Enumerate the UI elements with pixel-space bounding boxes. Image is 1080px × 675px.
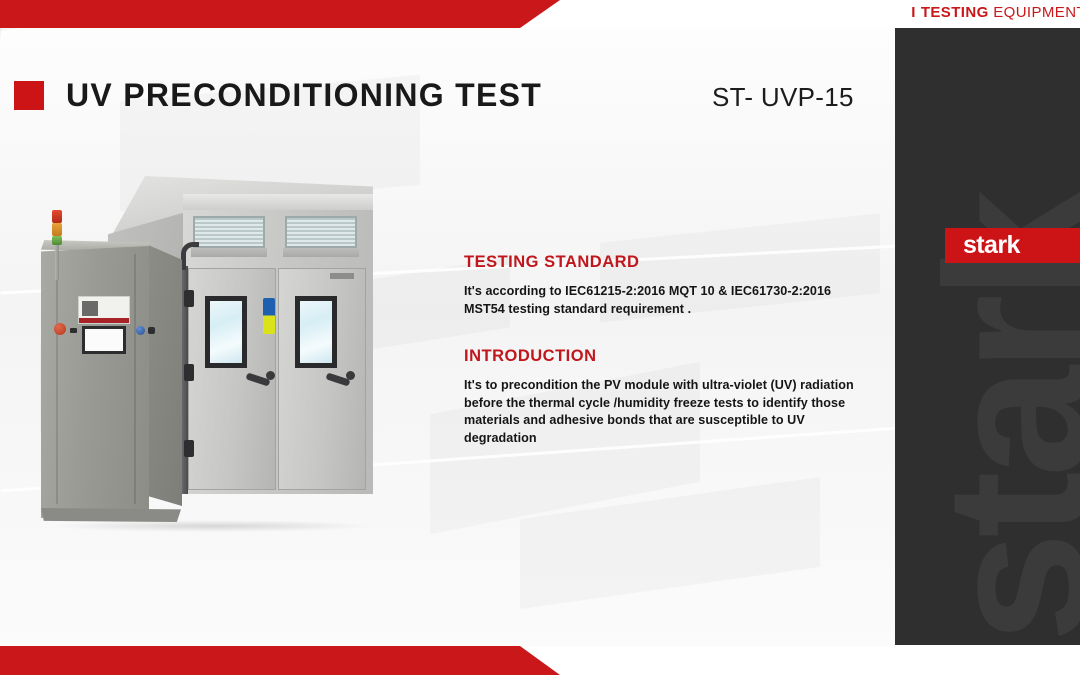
- label-thumbnail: [82, 301, 98, 316]
- chamber-top-lip: [183, 194, 373, 210]
- safety-warning-sticker: [263, 298, 275, 334]
- hmi-touchscreen: [82, 326, 126, 354]
- cabinet-panel-seam: [134, 254, 136, 504]
- page-title-row: UV PRECONDITIONING TEST: [14, 78, 542, 112]
- door-window-left: [205, 296, 247, 368]
- tower-light-green: [52, 236, 62, 245]
- door-cable-conduit: [181, 242, 199, 270]
- cabinet-switch: [70, 328, 77, 333]
- door-hinge-middle: [184, 364, 194, 381]
- door-hinge-top: [184, 290, 194, 307]
- section-heading-introduction: INTRODUCTION: [464, 346, 854, 366]
- page-title: UV PRECONDITIONING TEST: [66, 78, 542, 112]
- section-testing-standard: TESTING STANDARD It's according to IEC61…: [464, 252, 854, 318]
- vent-base-left: [191, 248, 267, 257]
- label-red-strip: [79, 318, 129, 323]
- tower-light-pole: [55, 242, 59, 280]
- cabinet-info-label: [78, 296, 130, 324]
- brand-logo-text: stark: [963, 232, 1020, 259]
- cabinet-indicator-button: [136, 326, 145, 335]
- door-window-right: [295, 296, 337, 368]
- vent-base-right: [283, 248, 359, 257]
- section-body-testing-standard: It's according to IEC61215-2:2016 MQT 10…: [464, 283, 854, 318]
- cabinet-panel-seam: [56, 254, 58, 504]
- section-body-introduction: It's to precondition the PV module with …: [464, 377, 854, 447]
- header-category-label: ITESTING EQUIPMENT: [911, 4, 1080, 22]
- door-latch-left: [266, 371, 275, 380]
- header-separator-icon: I: [911, 4, 916, 21]
- section-heading-testing-standard: TESTING STANDARD: [464, 252, 854, 272]
- content-column: TESTING STANDARD It's according to IEC61…: [464, 252, 854, 447]
- control-cabinet-base: [41, 508, 181, 522]
- equipment-shadow: [48, 520, 378, 532]
- door-latch-right: [346, 371, 355, 380]
- header-category-light: EQUIPMENT: [993, 4, 1080, 21]
- condenser-vent-right: [285, 216, 357, 248]
- emergency-stop-button: [54, 323, 66, 335]
- title-bullet-square-icon: [14, 81, 44, 110]
- equipment-photo: [38, 168, 448, 568]
- slide-canvas: ITESTING EQUIPMENT UV PRECONDITIONING TE…: [0, 0, 1080, 675]
- tower-light-amber: [52, 223, 62, 236]
- header-category-strong: TESTING: [921, 4, 989, 21]
- tower-light-red: [52, 210, 62, 223]
- brand-sidebar: stark stark: [895, 28, 1080, 645]
- section-introduction: INTRODUCTION It's to precondition the PV…: [464, 346, 854, 447]
- cabinet-selector-knob: [148, 327, 155, 334]
- bottom-red-banner: [0, 646, 560, 675]
- brand-logo: stark: [945, 228, 1080, 263]
- condenser-vent-left: [193, 216, 265, 248]
- model-code: ST- UVP-15: [712, 82, 854, 113]
- door-hinge-bottom: [184, 440, 194, 457]
- top-red-banner: [0, 0, 560, 28]
- control-cabinet-side: [146, 244, 182, 506]
- chamber-nameplate: [330, 273, 354, 279]
